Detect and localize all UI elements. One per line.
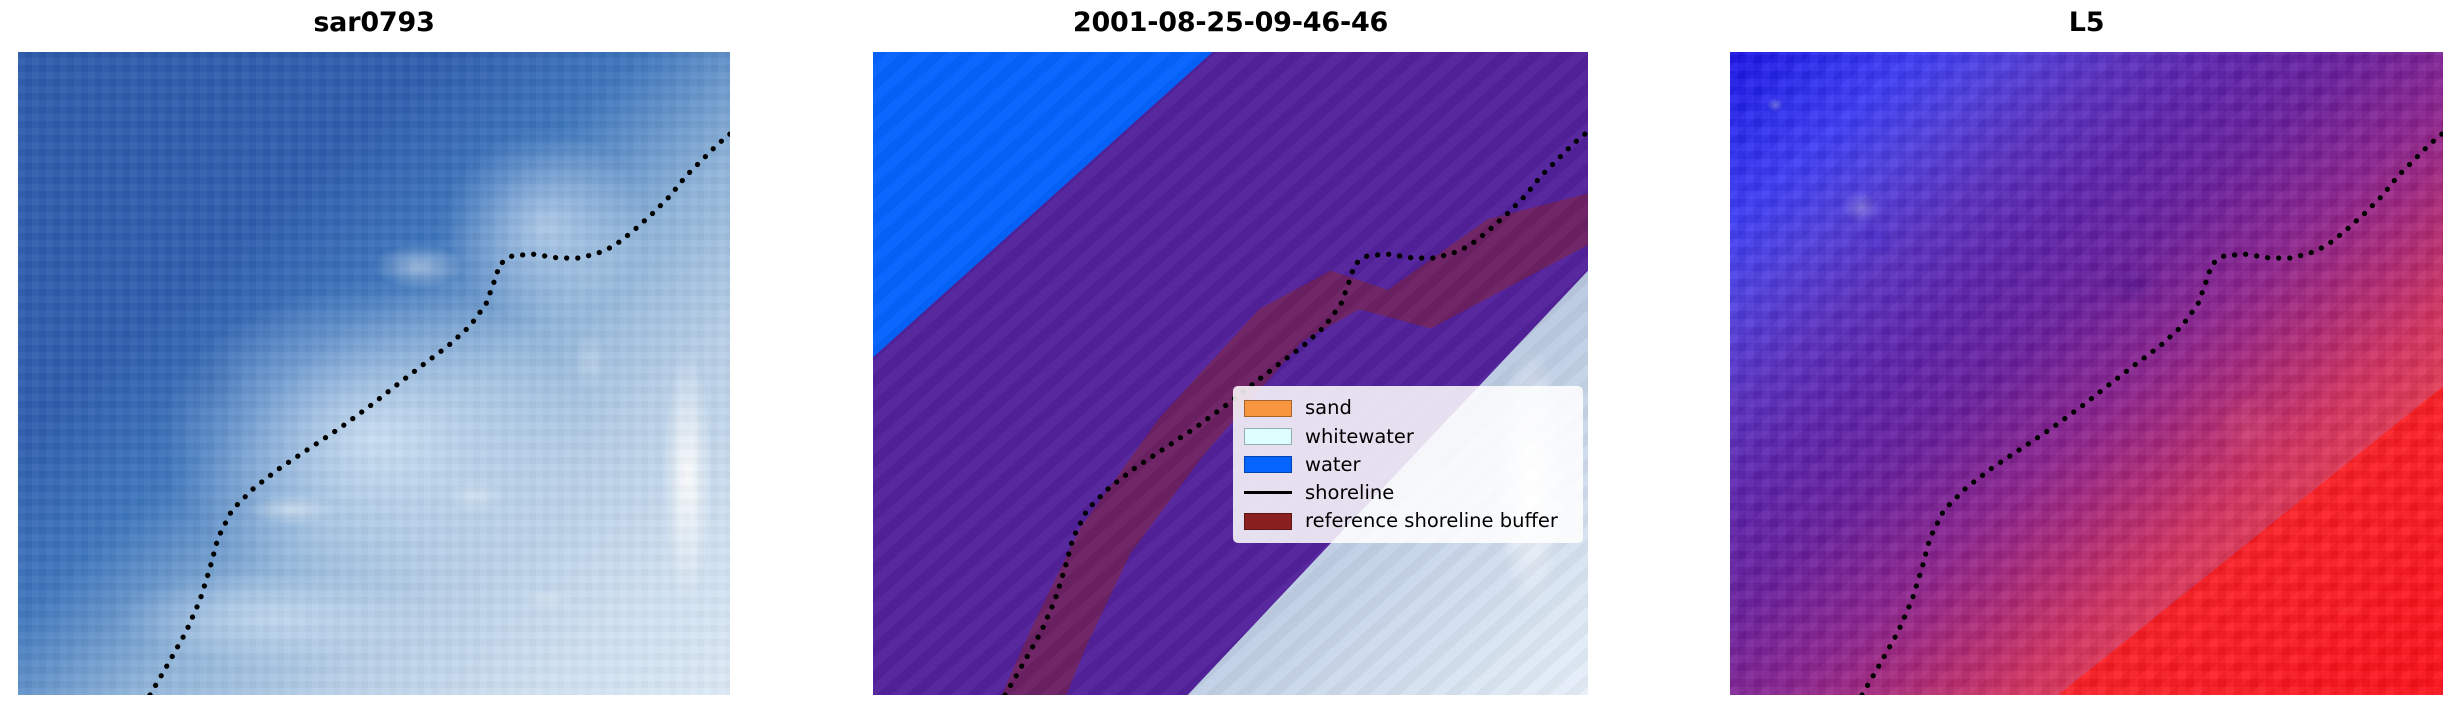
legend-item-shoreline[interactable]: shoreline	[1244, 480, 1572, 506]
legend-swatch-sand-icon	[1244, 400, 1292, 417]
legend-item-reference-shoreline-buffer[interactable]: reference shoreline buffer	[1244, 508, 1572, 534]
legend-box[interactable]: sand whitewater water shoreline referenc…	[1233, 386, 1583, 543]
panel-title-sar: sar0793	[18, 6, 730, 40]
legend-swatch-shoreline-icon	[1244, 491, 1292, 494]
index-pixel-texture	[1730, 52, 2443, 695]
legend-label-water: water	[1305, 455, 1361, 475]
legend-swatch-reference-buffer-icon	[1244, 513, 1292, 530]
legend-item-water[interactable]: water	[1244, 452, 1572, 478]
legend-item-sand[interactable]: sand	[1244, 395, 1572, 421]
legend-label-whitewater: whitewater	[1305, 427, 1414, 447]
legend-swatch-water-icon	[1244, 456, 1292, 473]
legend-label-sand: sand	[1305, 398, 1352, 418]
sar-speckle-layer	[18, 52, 730, 695]
legend-label-shoreline: shoreline	[1305, 483, 1394, 503]
classification-pixel-texture	[873, 52, 1588, 695]
panel-title-classification: 2001-08-25-09-46-46	[873, 6, 1588, 40]
legend-label-reference-shoreline-buffer: reference shoreline buffer	[1305, 511, 1558, 531]
legend-item-whitewater[interactable]: whitewater	[1244, 423, 1572, 449]
figure-canvas: sar0793 2001-08-25-09-46-46 L5	[0, 0, 2460, 711]
panel-classification-image[interactable]	[873, 52, 1588, 695]
legend-swatch-whitewater-icon	[1244, 428, 1292, 445]
panel-sar-image[interactable]	[18, 52, 730, 695]
panel-title-index: L5	[1730, 6, 2443, 40]
panel-index-image[interactable]	[1730, 52, 2443, 695]
